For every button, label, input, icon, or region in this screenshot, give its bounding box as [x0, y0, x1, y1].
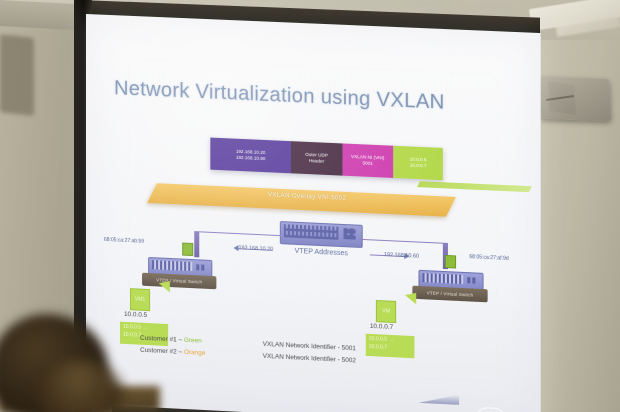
- legend-customers: Customer #1 – Green Customer #2 – Orange: [140, 333, 205, 361]
- left-vm-packet-arrow: →: [143, 325, 148, 331]
- uplink-left: [196, 231, 281, 236]
- legend-customer2-row: Customer #2 – Orange: [140, 345, 205, 360]
- vtep-addresses-label: VTEP Addresses: [275, 247, 368, 258]
- packet-vxlan-header: VXLAN NI (VNI) 5001: [342, 143, 393, 178]
- left-vtep-box: VTEP / Virtual Switch: [142, 273, 216, 290]
- right-vm-packet-dst: 10.0.0.7: [369, 343, 387, 350]
- right-vm-packet-arrow: →: [389, 337, 394, 343]
- outer-udp-line2: Header: [309, 158, 324, 164]
- packet-outer-ip: 192.168.10.20 192.168.10.60: [210, 138, 291, 174]
- left-vm-packet-src: 10.0.0.5: [123, 324, 141, 331]
- right-host-mac: 68:05:ca:27:af:9d: [469, 254, 508, 262]
- photo-scene: Network Virtualization using VXLAN 192.1…: [0, 0, 620, 412]
- projector-screen: Network Virtualization using VXLAN 192.1…: [86, 14, 541, 412]
- core-switch-leds: [343, 228, 355, 240]
- uplink-riser-left: [194, 231, 199, 257]
- legend-vnis: VXLAN Network Identifier - 5001 VXLAN Ne…: [263, 339, 356, 368]
- presentation-slide: Network Virtualization using VXLAN 192.1…: [86, 14, 541, 412]
- right-vtep-ip: 192.168.10.60: [384, 252, 419, 260]
- packet-outer-udp: Outer UDP Header: [291, 141, 342, 175]
- right-vm-icon: VM: [376, 300, 396, 323]
- vxlan-vni-value: 5001: [363, 160, 373, 166]
- inner-ip-dst: 10.0.0.7: [410, 163, 427, 169]
- legend-customer2-label: Customer #2 –: [140, 347, 184, 356]
- right-vm-packet-src: 10.0.0.5: [369, 336, 387, 343]
- green-overlay-bar: [417, 181, 532, 192]
- inner-ip-src: 10.0.0.5: [410, 156, 427, 162]
- left-vm-icon: VM1: [130, 288, 150, 311]
- intel-logo: intel: [477, 407, 503, 412]
- left-virtual-switch-ports: [152, 260, 192, 271]
- legend-customer1-label: Customer #1 –: [140, 335, 184, 344]
- left-vm-packet-dst: 10.0.0.7: [123, 331, 141, 338]
- legend-customer1-color: Green: [184, 337, 202, 345]
- slide-title: Network Virtualization using VXLAN: [114, 77, 445, 115]
- right-virtual-switch-leds: [467, 277, 477, 284]
- left-host-nic-icon: [182, 243, 193, 257]
- packet-inner-payload: 10.0.0.5 10.0.0.7: [393, 146, 442, 180]
- left-wall-panel: [0, 34, 34, 116]
- left-virtual-switch-leds: [196, 264, 206, 270]
- packet-diagram: 192.168.10.20 192.168.10.60 Outer UDP He…: [210, 138, 443, 181]
- right-vtep-box: VTEP / Virtual Switch: [412, 286, 487, 303]
- right-virtual-switch-ports: [423, 273, 464, 284]
- uplink-right: [360, 239, 447, 244]
- core-switch-ports: [284, 224, 339, 240]
- right-vm-ip: 10.0.0.7: [370, 323, 393, 331]
- outer-ip-dst: 192.168.10.60: [236, 155, 266, 163]
- left-host-mac: 68:05:ca:27:ab:b9: [104, 237, 144, 245]
- outer-udp-line1: Outer UDP: [305, 152, 328, 158]
- vxlan-label: VXLAN NI (VNI): [351, 154, 384, 161]
- left-vm-ip: 10.0.0.5: [124, 311, 147, 319]
- right-host-nic-icon: [445, 255, 456, 269]
- left-vtep-ip: 192.168.10.20: [239, 245, 274, 253]
- right-vm-packet: 10.0.0.5 → 10.0.0.7: [366, 334, 415, 359]
- legend-customer2-color: Orange: [184, 349, 205, 357]
